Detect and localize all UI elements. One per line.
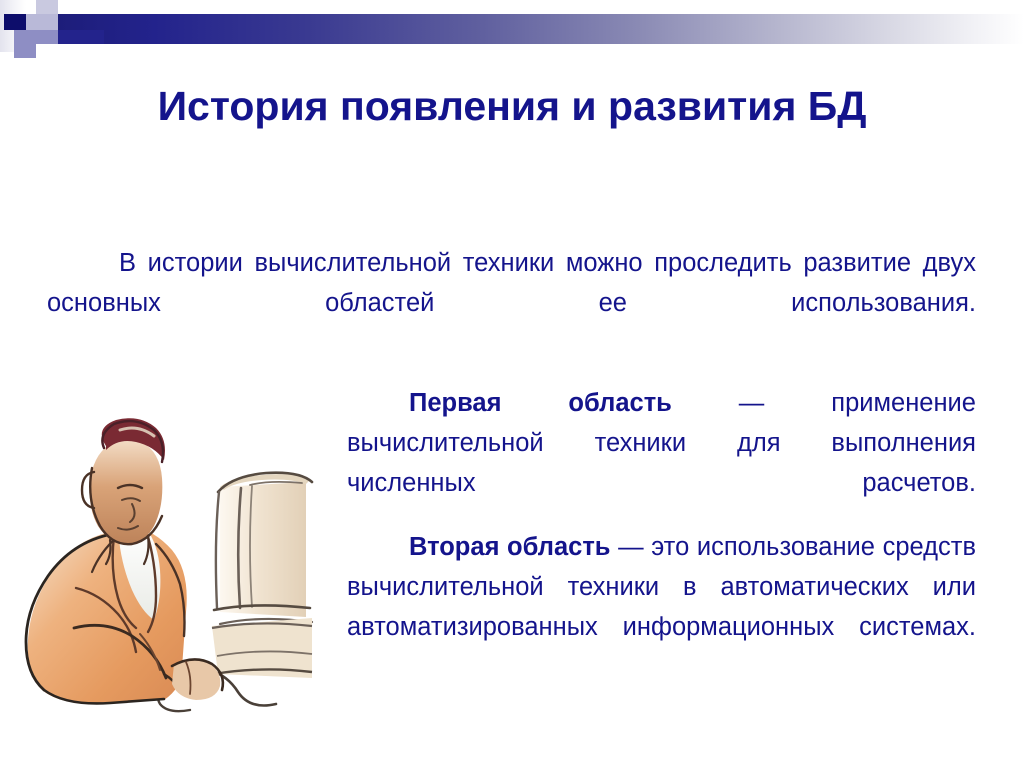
header-block-top-right	[36, 14, 58, 30]
paragraph-first-area: Первая область — применение вычислительн…	[347, 383, 976, 543]
page-title: История появления и развития БД	[0, 82, 1024, 130]
paragraph-second-lead: Вторая область	[409, 533, 610, 561]
businessman-at-computer-illustration	[14, 412, 314, 720]
paragraph-second-area: Вторая область — это использование средс…	[347, 527, 976, 687]
paragraph-first-lead: Первая область	[409, 389, 672, 417]
slide-canvas: История появления и развития БД В истори…	[0, 0, 1024, 767]
header-block-navy-small	[4, 14, 24, 30]
hand-and-mouse-shape	[172, 659, 223, 700]
paragraph-intro-text: В истории вычислительной техники можно п…	[47, 249, 976, 317]
businessman-at-computer-icon	[14, 412, 314, 720]
paragraph-first-dash: —	[672, 389, 831, 417]
header-block-top	[36, 0, 58, 14]
header-block-dark	[58, 30, 104, 44]
header-block-mid-left	[14, 30, 36, 44]
computer-monitor-shape	[212, 473, 312, 678]
paragraph-intro: В истории вычислительной техники можно п…	[47, 243, 976, 363]
header-block-mid-right	[36, 30, 58, 44]
header-gradient-bar	[58, 14, 1024, 44]
header-decoration	[0, 0, 1024, 70]
header-block-bottom	[14, 44, 36, 58]
person-body-shape	[26, 526, 187, 704]
paragraph-second-dash: —	[610, 533, 651, 561]
